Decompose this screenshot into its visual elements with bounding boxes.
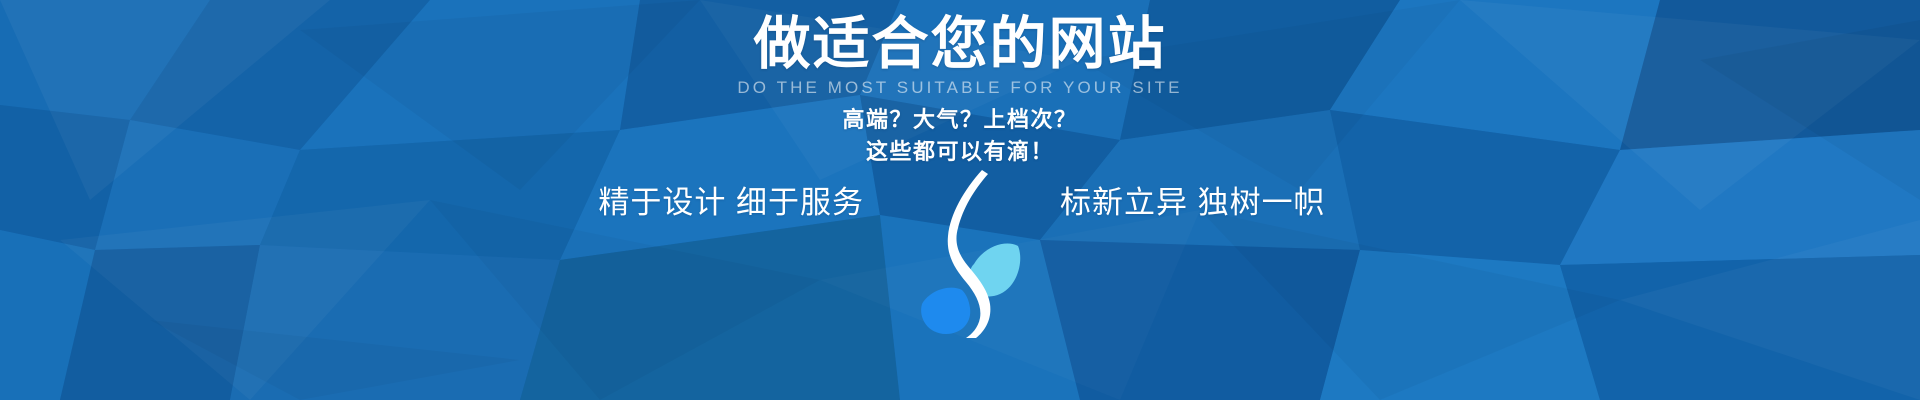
page-title: 做适合您的网站	[0, 14, 1920, 76]
logo-leaf-lower-icon	[921, 288, 970, 334]
tagline-line-1: 高端？大气？上档次？	[0, 104, 1920, 136]
promo-banner: 做适合您的网站 DO THE MOST SUITABLE FOR YOUR SI…	[0, 0, 1920, 400]
headline-block: 做适合您的网站 DO THE MOST SUITABLE FOR YOUR SI…	[0, 14, 1920, 98]
tagline-line-2: 这些都可以有滴！	[0, 136, 1920, 168]
subtitle-english: DO THE MOST SUITABLE FOR YOUR SITE	[0, 78, 1920, 98]
tagline-block: 高端？大气？上档次？ 这些都可以有滴！	[0, 104, 1920, 168]
leaf-swirl-logo	[908, 168, 1024, 338]
slogan-right: 标新立异 独树一帜	[1010, 187, 1410, 218]
slogan-left: 精于设计 细于服务	[510, 187, 910, 218]
